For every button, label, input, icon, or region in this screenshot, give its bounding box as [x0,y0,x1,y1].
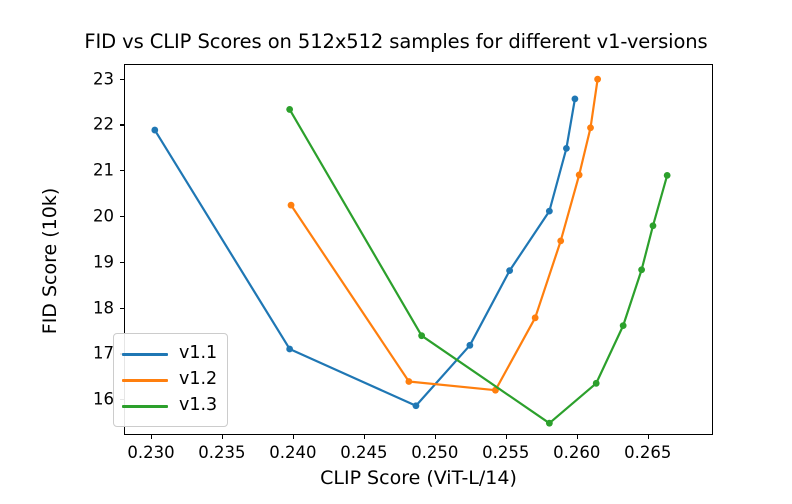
x-tick-label: 0.245 [324,443,404,462]
y-tick-label: 20 [54,207,114,226]
y-axis-label: FID Score (10k) [39,111,61,411]
legend-color-swatch [122,405,168,408]
data-point [620,322,627,329]
data-point [546,420,553,427]
series-line [291,79,598,390]
x-tick-mark [506,435,507,439]
data-point [418,332,425,339]
data-point [587,124,594,131]
legend-item[interactable]: v1.3 [122,393,217,419]
y-tick-mark [120,216,124,217]
data-point [532,314,539,321]
chart-title: FID vs CLIP Scores on 512x512 samples fo… [0,30,792,53]
x-tick-label: 0.260 [537,443,617,462]
x-tick-mark [577,435,578,439]
y-tick-mark [120,170,124,171]
x-tick-label: 0.240 [253,443,333,462]
data-point [466,342,473,349]
series-line [290,109,668,423]
legend-item[interactable]: v1.2 [122,367,217,393]
legend-color-swatch [122,379,168,382]
x-tick-mark [293,435,294,439]
x-tick-label: 0.235 [182,443,262,462]
y-tick-label: 16 [54,390,114,409]
series-v1-3 [286,106,670,427]
data-point [286,106,293,113]
x-tick-label: 0.230 [111,443,191,462]
x-tick-label: 0.255 [466,443,546,462]
data-point [638,266,645,273]
data-point [405,378,412,385]
legend-label: v1.2 [179,371,217,389]
series-v1-2 [288,76,601,394]
y-tick-mark [120,79,124,80]
data-point [546,208,553,215]
y-tick-mark [120,124,124,125]
x-tick-mark [648,435,649,439]
y-tick-mark [120,308,124,309]
x-tick-mark [222,435,223,439]
x-tick-mark [435,435,436,439]
y-tick-mark [120,262,124,263]
chart-figure: FID vs CLIP Scores on 512x512 samples fo… [0,0,792,504]
legend-label: v1.1 [179,345,217,363]
data-point [288,202,295,209]
y-tick-label: 23 [54,69,114,88]
x-tick-mark [151,435,152,439]
data-point [593,380,600,387]
data-point [572,95,579,102]
data-point [664,172,671,179]
x-axis-label: CLIP Score (ViT-L/14) [124,467,713,489]
x-tick-label: 0.265 [608,443,688,462]
data-point [286,346,293,353]
y-tick-label: 19 [54,252,114,271]
data-point [413,402,420,409]
legend: v1.1v1.2v1.3 [113,333,228,427]
y-tick-label: 22 [54,115,114,134]
y-tick-label: 17 [54,344,114,363]
x-tick-label: 0.250 [395,443,475,462]
data-point [594,76,601,83]
data-point [506,267,513,274]
legend-color-swatch [122,353,168,356]
data-point [563,145,570,152]
legend-item[interactable]: v1.1 [122,341,217,367]
data-point [557,237,564,244]
y-tick-label: 21 [54,161,114,180]
data-point [650,222,657,229]
legend-label: v1.3 [179,397,217,415]
data-point [576,172,583,179]
data-point [151,127,158,134]
x-tick-mark [364,435,365,439]
y-tick-label: 18 [54,298,114,317]
